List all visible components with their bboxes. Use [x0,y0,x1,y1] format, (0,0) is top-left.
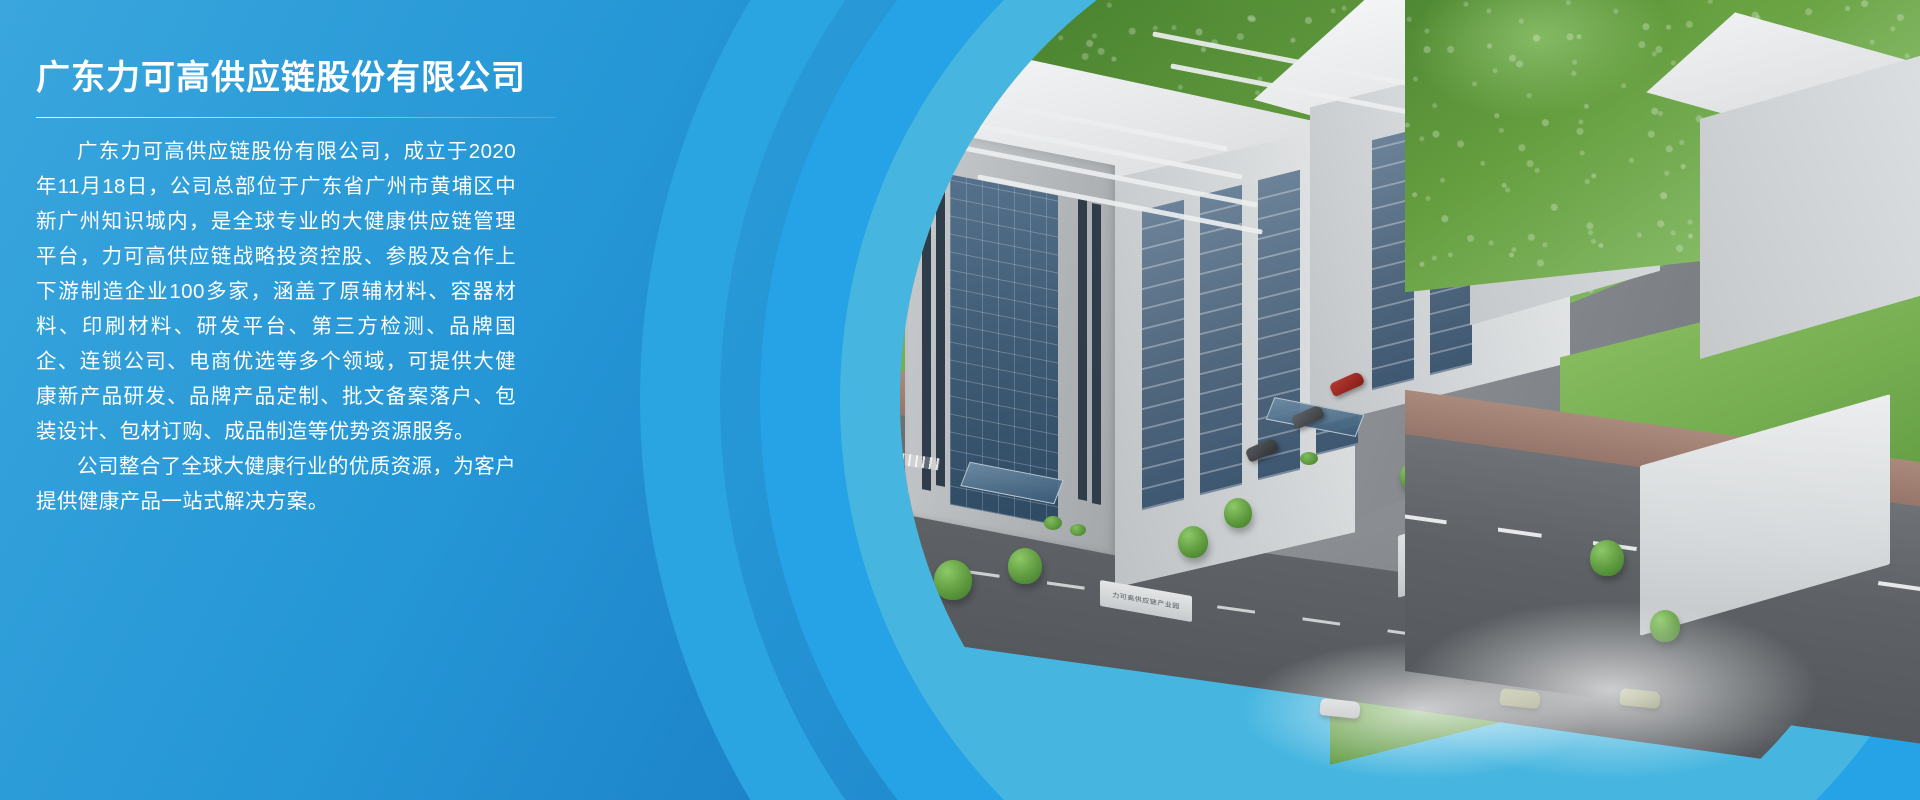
tree-icon [934,560,972,600]
facade-slit-1 [922,189,931,491]
tree-icon [1178,526,1208,558]
signboard-label: 力可高供应链产业园 [1112,591,1180,612]
page-title: 广东力可高供应链股份有限公司 [36,58,524,99]
tree-icon [1224,498,1252,528]
shrub [1070,524,1086,536]
tree-icon [1008,548,1042,584]
car-icon [900,653,903,675]
side-window-band-2 [1200,185,1242,495]
facade-slit-4 [1092,203,1101,505]
side-window-band-3 [1258,170,1300,480]
company-intro-paragraph-1: 广东力可高供应链股份有限公司，成立于2020年11月18日，公司总部位于广东省广… [36,134,516,449]
atmospheric-haze-right [1405,600,1820,780]
text-content-column: 广东力可高供应链股份有限公司 广东力可高供应链股份有限公司，成立于2020年11… [0,0,560,519]
facade-slit-3 [1078,199,1087,501]
company-profile-banner: 力可高供应链产业园 [0,0,1920,800]
company-intro-paragraph-2: 公司整合了全球大健康行业的优质资源，为客户提供健康产品一站式解决方案。 [36,449,516,519]
shrub [1044,516,1062,530]
tree-icon [1590,540,1624,576]
headquarters-rendering: 力可高供应链产业园 [900,0,1010,800]
facade-slit-2 [936,185,945,487]
headquarters-photo-extension [1405,0,1920,800]
side-window-band-1 [1142,200,1184,510]
title-divider [36,117,556,118]
shrub [1300,452,1318,465]
